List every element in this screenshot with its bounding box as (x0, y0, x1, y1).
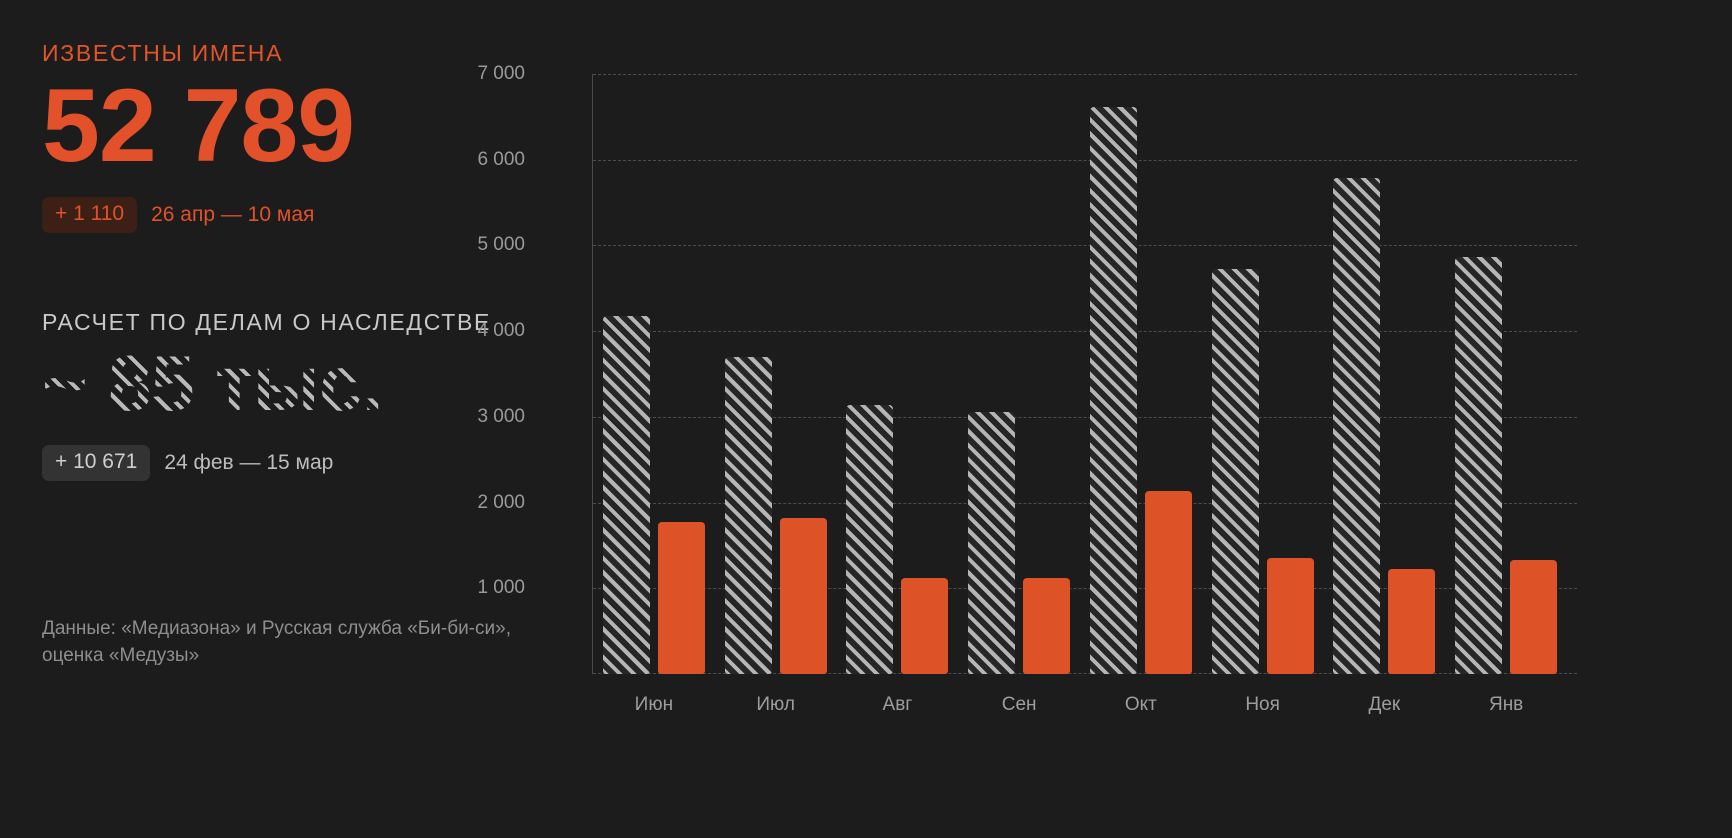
y-axis-label: 2 000 (477, 492, 525, 514)
inheritance-meta: + 10 671 24 фев — 15 мар (42, 445, 560, 481)
y-axis-label: 7 000 (477, 63, 525, 85)
bar-known-names (658, 522, 705, 674)
inheritance-value: ~ 85 тыс. (42, 340, 383, 427)
x-axis-label: Июн (593, 694, 715, 716)
bar-group: Авг (837, 74, 959, 674)
bar-inheritance-estimate (603, 316, 650, 674)
bar-known-names (1510, 560, 1557, 674)
bar-known-names (780, 518, 827, 674)
stats-panel: ИЗВЕСТНЫ ИМЕНА 52 789 + 1 110 26 апр — 1… (0, 0, 560, 838)
bar-inheritance-estimate (1090, 107, 1137, 674)
x-axis-label: Дек (1324, 694, 1446, 716)
bar-group: Ноя (1202, 74, 1324, 674)
bar-group: Июн (593, 74, 715, 674)
x-axis-label: Июл (715, 694, 837, 716)
y-axis-label: 1 000 (477, 577, 525, 599)
bar-inheritance-estimate (1455, 257, 1502, 674)
bar-inheritance-estimate (846, 405, 893, 674)
known-names-meta: + 1 110 26 апр — 10 мая (42, 197, 560, 233)
bar-chart: 1 0002 0003 0004 0005 0006 0007 000 ИюнИ… (520, 54, 1620, 754)
x-axis-label: Ноя (1202, 694, 1324, 716)
source-note: Данные: «Медиазона» и Русская служба «Би… (42, 615, 511, 670)
inheritance-delta-badge: + 10 671 (42, 445, 150, 481)
source-note-line-2: оценка «Медузы» (42, 642, 511, 670)
bar-group: Июл (715, 74, 837, 674)
bar-group: Янв (1445, 74, 1567, 674)
y-axis-label: 3 000 (477, 406, 525, 428)
x-axis-label: Окт (1080, 694, 1202, 716)
known-names-delta-badge: + 1 110 (42, 197, 137, 233)
inheritance-date-range: 24 фев — 15 мар (164, 451, 333, 475)
plot-area: 1 0002 0003 0004 0005 0006 0007 000 ИюнИ… (592, 74, 1567, 674)
y-axis-label: 5 000 (477, 234, 525, 256)
bar-inheritance-estimate (1333, 178, 1380, 674)
bar-inheritance-estimate (968, 412, 1015, 674)
bar-known-names (901, 578, 948, 674)
bar-inheritance-estimate (1212, 269, 1259, 674)
bar-known-names (1145, 491, 1192, 674)
x-axis-label: Сен (958, 694, 1080, 716)
bar-inheritance-estimate (725, 357, 772, 674)
x-axis-label: Авг (837, 694, 959, 716)
bar-group: Дек (1324, 74, 1446, 674)
y-axis-label: 4 000 (477, 320, 525, 342)
known-names-date-range: 26 апр — 10 мая (151, 203, 314, 227)
bar-known-names (1023, 578, 1070, 674)
bar-known-names (1388, 569, 1435, 674)
y-axis-label: 6 000 (477, 149, 525, 171)
x-axis-label: Янв (1445, 694, 1567, 716)
bar-known-names (1267, 558, 1314, 674)
source-note-line-1: Данные: «Медиазона» и Русская служба «Би… (42, 615, 511, 643)
bar-group: Сен (958, 74, 1080, 674)
bar-group: Окт (1080, 74, 1202, 674)
